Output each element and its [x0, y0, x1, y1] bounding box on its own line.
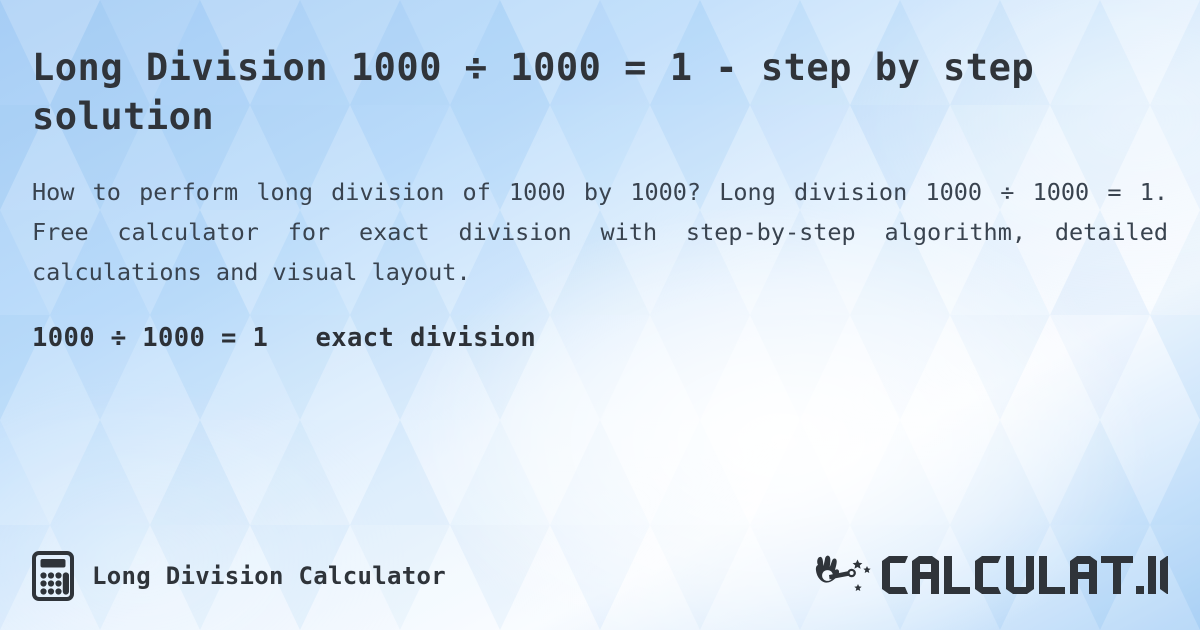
calculator-icon	[32, 551, 74, 601]
og-image-card: Long Division 1000 ÷ 1000 = 1 - step by …	[0, 0, 1200, 630]
result-equation: 1000 ÷ 1000 = 1 exact division	[32, 293, 1168, 353]
footer-brand-label: Long Division Calculator	[92, 562, 446, 590]
logo-wordmark	[880, 554, 1168, 598]
magic-wand-hand-icon	[810, 553, 874, 599]
content-area: Long Division 1000 ÷ 1000 = 1 - step by …	[0, 0, 1200, 353]
footer-bar: Long Division Calculator	[0, 522, 1200, 630]
footer-brand[interactable]: Long Division Calculator	[32, 551, 446, 601]
page-title: Long Division 1000 ÷ 1000 = 1 - step by …	[32, 0, 1137, 142]
page-description: How to perform long division of 1000 by …	[32, 142, 1168, 293]
site-logo[interactable]	[810, 553, 1168, 599]
